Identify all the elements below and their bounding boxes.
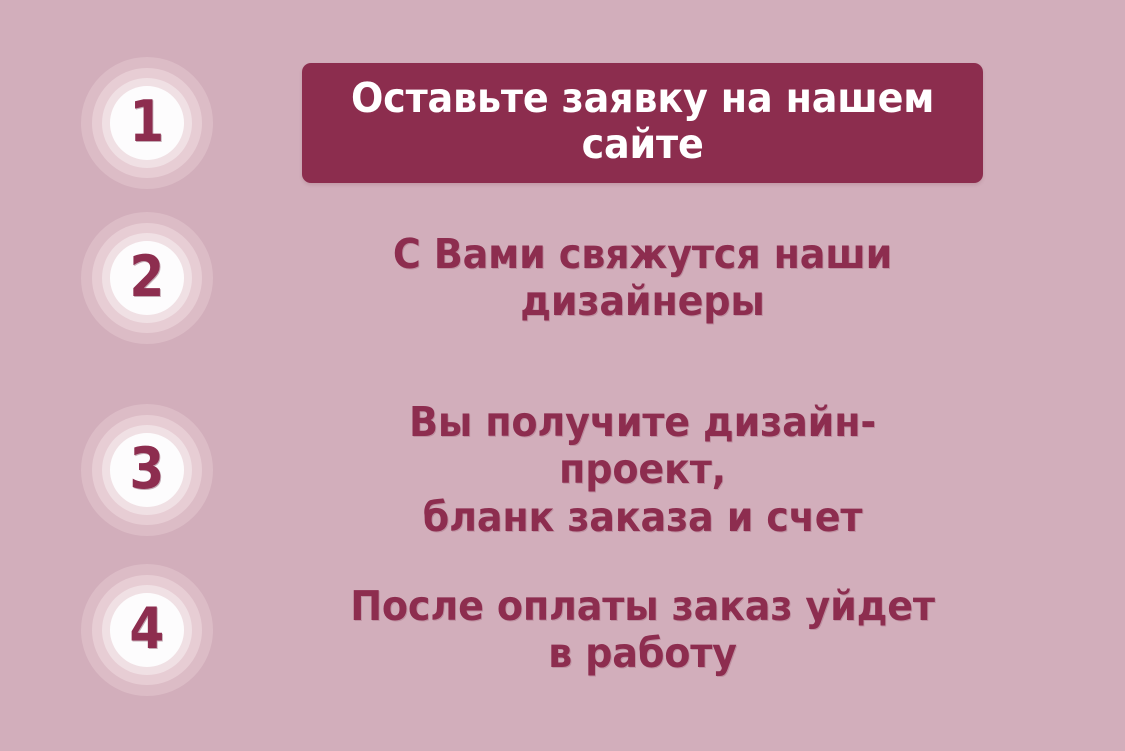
step-badge-1: 1 [81, 57, 213, 189]
step-row-4: 4 После оплаты заказ уйдет в работу [0, 564, 1125, 696]
step-text-line1-1: Оставьте заявку на нашем [351, 74, 934, 122]
step-text-line2-2: дизайнеры [520, 277, 764, 325]
step-text-line2-3: бланк заказа и счет [423, 493, 863, 541]
step-text-4: После оплаты заказ уйдет в работу [326, 583, 959, 677]
step-text-3: Вы получите дизайн-проект, бланк заказа … [326, 399, 959, 540]
step-number-3: 3 [130, 441, 165, 498]
step-text-line2-4: в работу [548, 629, 737, 677]
step-text-line1-4: После оплаты заказ уйдет [350, 582, 935, 630]
step-badge-3: 3 [81, 404, 213, 536]
steps-infographic: 1 Оставьте заявку на нашем сайте 2 С Вам… [0, 0, 1125, 751]
step-banner-1: Оставьте заявку на нашем сайте [302, 63, 983, 184]
step-text-line1-2: С Вами свяжутся наши [393, 230, 892, 278]
step-number-2: 2 [130, 249, 165, 306]
step-number-4: 4 [130, 601, 165, 658]
step-badge-2: 2 [81, 212, 213, 344]
step-text-line1-3: Вы получите дизайн-проект, [409, 398, 876, 493]
step-text-2: С Вами свяжутся наши дизайнеры [326, 231, 959, 325]
step-text-line2-1: сайте [581, 120, 703, 168]
step-row-1: 1 Оставьте заявку на нашем сайте [0, 57, 1125, 189]
step-number-1: 1 [130, 94, 165, 151]
step-row-3: 3 Вы получите дизайн-проект, бланк заказ… [0, 404, 1125, 536]
step-row-2: 2 С Вами свяжутся наши дизайнеры [0, 212, 1125, 344]
step-badge-4: 4 [81, 564, 213, 696]
step-banner-text-1: Оставьте заявку на нашем сайте [351, 75, 934, 168]
